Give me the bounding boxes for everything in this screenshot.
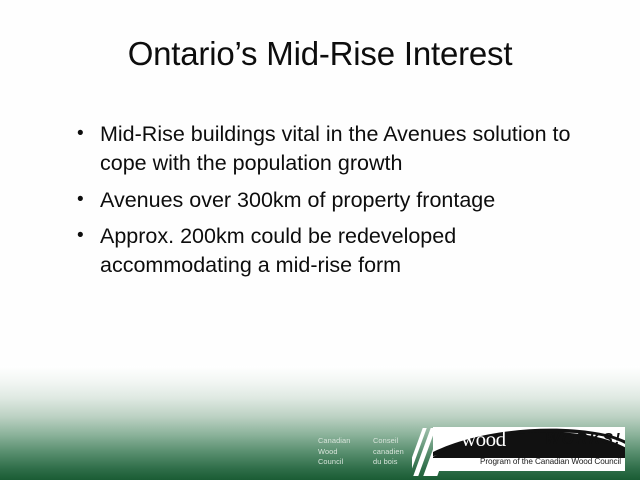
cwc-fr-line: canadien (373, 447, 404, 458)
list-item: • Mid-Rise buildings vital in the Avenue… (70, 120, 590, 178)
list-item: • Avenues over 300km of property frontag… (70, 186, 590, 215)
list-item-text: Avenues over 300km of property frontage (100, 188, 495, 212)
list-item-text: Mid-Rise buildings vital in the Avenues … (100, 122, 570, 175)
woodworks-tagline: Program of the Canadian Wood Council (480, 457, 621, 466)
bullet-list: • Mid-Rise buildings vital in the Avenue… (70, 120, 590, 288)
cwc-fr-line: du bois (373, 457, 404, 468)
page-title: Ontario’s Mid-Rise Interest (0, 36, 640, 72)
cwc-en-line: Wood (318, 447, 350, 458)
list-item: • Approx. 200km could be redeveloped acc… (70, 222, 590, 280)
bullet-marker-icon: • (77, 222, 84, 249)
woodworks-wordmark-works: WORKS! (545, 432, 622, 448)
cwc-en-line: Council (318, 457, 350, 468)
bullet-marker-icon: • (77, 120, 84, 147)
bullet-marker-icon: • (77, 186, 84, 213)
cwc-french-text: Conseil canadien du bois (373, 436, 404, 468)
woodworks-logo: wood WORKS! Program of the Canadian Wood… (433, 427, 625, 471)
cwc-fr-line: Conseil (373, 436, 404, 447)
woodworks-wordmark-wood: wood (461, 429, 506, 450)
canadian-wood-council-logo: Canadian Wood Council Conseil canadien d… (318, 432, 436, 474)
cwc-english-text: Canadian Wood Council (318, 436, 350, 468)
slide-canvas: Ontario’s Mid-Rise Interest • Mid-Rise b… (0, 0, 640, 480)
cwc-en-line: Canadian (318, 436, 350, 447)
list-item-text: Approx. 200km could be redeveloped accom… (100, 224, 456, 277)
